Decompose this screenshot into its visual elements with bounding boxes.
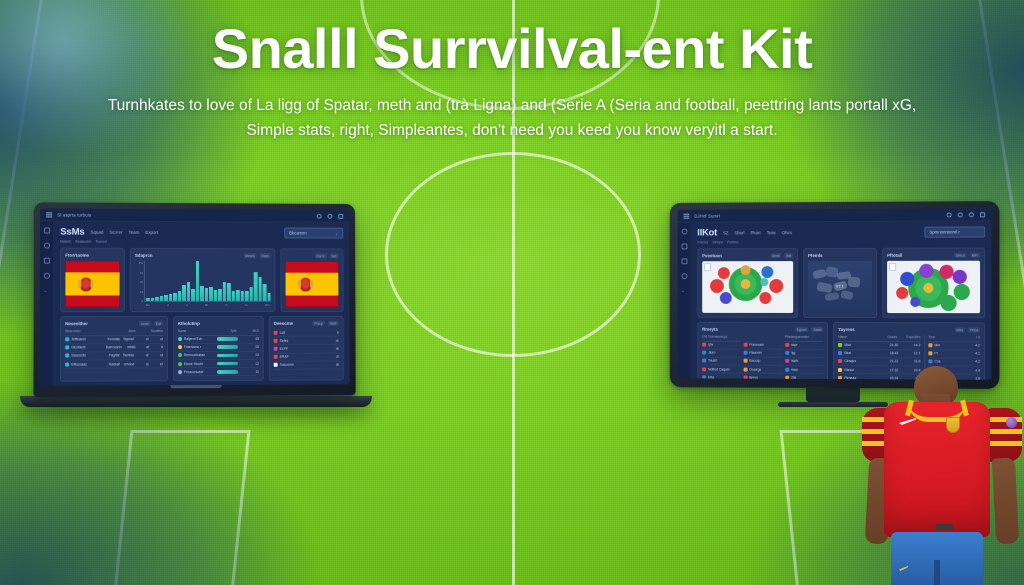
roster-col-c: Fttielaegueeestm aaprhjgbtqfsHaarOfitJnt	[785, 335, 824, 380]
panel-roster-head: Rmeyta Eyport Sadd	[702, 327, 823, 332]
row-name: ELFF	[280, 347, 315, 351]
scorers-action-1[interactable]: Pbca	[968, 327, 980, 332]
chart-bar	[245, 291, 249, 301]
row-color-swatch	[178, 370, 182, 374]
chart-bar	[191, 289, 195, 301]
panel-formation-left-actions: Emtf Bltt	[770, 253, 793, 258]
col-tpts: Tpts	[214, 329, 237, 333]
row-color-swatch	[743, 351, 747, 355]
pitch-shard	[824, 292, 839, 301]
row-value: mtdal	[124, 345, 136, 349]
chart-bar	[222, 282, 226, 301]
y-tick-0: Pts	[135, 261, 143, 265]
nav-item-4[interactable]: Ohirs	[782, 230, 792, 235]
panel-formation-right-actions: Sfmol MPr	[954, 253, 980, 258]
row-name: aapr	[791, 343, 824, 347]
row-name: Cus	[934, 360, 961, 364]
row-value: 11	[240, 370, 259, 374]
chart-x-axis: Mu cl a Mt Ur bv yPo	[144, 302, 271, 307]
table-mid-body: Raljerot Ech43Fraenamc r15Renouanuean14E…	[178, 335, 259, 376]
panel-formation-right: Pftotall Sfmol MPr	[882, 248, 985, 319]
help-icon[interactable]	[958, 212, 963, 217]
panel-table-right-actions: Poicy SMP	[312, 321, 338, 326]
x-tick-0: Mu	[146, 303, 150, 307]
competition-select-value: Sprnnnnnnnnrl r	[929, 230, 959, 235]
user-icon[interactable]	[980, 212, 985, 217]
bubble-node	[939, 265, 953, 279]
sleeve-stripe	[986, 441, 1022, 446]
table-icon[interactable]	[43, 258, 49, 264]
season-select-value: Bbcamnn	[289, 230, 306, 235]
panel-table-mid: KtholcEnp Name Tpts MLS Raljerot Ech43Fr…	[173, 316, 264, 382]
row-bar	[217, 337, 238, 341]
poster-text-block: Snalll Surrvilval-ent Kit Turnhkates to …	[0, 20, 1024, 144]
player-shorts	[891, 532, 983, 585]
table-row[interactable]: Setesar	[274, 337, 339, 345]
table-row[interactable]: Jlurn	[702, 349, 740, 357]
row-name: Poneoam	[749, 343, 781, 347]
table-row[interactable]: Raljerot Ech43	[178, 335, 259, 343]
spain-crest-icon	[81, 277, 92, 290]
row-name: Ijhv	[708, 343, 740, 347]
breadcrumb-item-0[interactable]: Mateis	[60, 240, 71, 244]
table-row[interactable]: Poneoam	[743, 341, 781, 349]
row-value: Tigola2	[122, 337, 134, 341]
bar-chart: Pts 4d 2d 1d 4 Mu	[135, 261, 271, 307]
spain-flag	[65, 261, 120, 307]
row-value: it	[317, 330, 339, 334]
row-color-swatch	[178, 345, 182, 349]
bubble-node	[952, 269, 966, 283]
table-row[interactable]: Haar	[785, 366, 824, 374]
laptop-body: ⌄ SsMs Squad Scorer Team Export	[40, 221, 350, 385]
chart-bar	[146, 298, 150, 301]
table-row[interactable]: GEofaerllBarrcoonnmtdalatit	[65, 344, 163, 353]
table-row[interactable]: Blrai18.4312.1	[838, 350, 920, 358]
scorers-action-0[interactable]: Mtrs	[954, 327, 965, 332]
table-row[interactable]: Rlaamtn	[743, 349, 781, 357]
breadcrumb-item-2[interactable]: Portmo	[727, 240, 738, 244]
x-tick-4: Ur	[225, 303, 228, 307]
panel-table-left-actions: xxxm Edf	[139, 321, 163, 326]
row-value: 14	[240, 353, 259, 357]
y-tick-1: 4d	[135, 270, 143, 274]
row-name: Etoue Htodrl	[184, 362, 215, 366]
roster-col-a-body: IjhvJlurnTausrtNotfed CaqumEtta	[702, 341, 740, 380]
league-badge-icon	[1006, 417, 1017, 428]
row-value: 12.1	[900, 352, 920, 356]
player-jersey	[884, 402, 990, 537]
table-row[interactable]: ERAFst	[274, 353, 339, 361]
chart-bar	[231, 291, 235, 301]
row-color-swatch	[178, 337, 182, 341]
row-color-swatch	[702, 367, 706, 371]
player-sleeve-right	[986, 408, 1022, 462]
nav-item-scorer[interactable]: Scorer	[109, 230, 122, 235]
table-action-1[interactable]: Edf	[154, 321, 163, 326]
chart-bar	[178, 291, 182, 301]
roster-col-c-title: Fttielaegueeestm	[785, 335, 809, 339]
gear-icon[interactable]	[969, 212, 974, 217]
panel-team-left: Fton'taome	[60, 248, 125, 312]
table-row[interactable]: Bacssp	[743, 358, 781, 366]
table-row[interactable]: Ooaegs	[743, 366, 781, 374]
chart-bar	[267, 293, 271, 301]
row-value: 21.30	[878, 343, 898, 347]
panel-title: Pftotall	[887, 253, 902, 258]
chart-action-more[interactable]: Mores	[243, 253, 256, 258]
nav-item-0[interactable]: SZ	[723, 230, 729, 235]
row-bar	[217, 345, 238, 349]
col-name: Name	[178, 329, 214, 333]
table-row[interactable]: Bmyg	[743, 374, 781, 380]
monitor-content: IIKot SZ Sborl Pkort Teas Ohirs Sprnnnnn…	[691, 221, 991, 379]
laptop-bottom-panels: Neseeither xxxm Edf Neseomlcr	[60, 316, 344, 382]
chart-bar	[168, 294, 172, 301]
spain-crest-icon	[300, 278, 311, 291]
table-row[interactable]: Renouanuean14	[178, 352, 259, 360]
formation-action-1[interactable]: MPr	[970, 253, 980, 258]
row-color-swatch	[702, 375, 706, 379]
bell-icon[interactable]	[317, 213, 322, 218]
row-name: Renouanuean	[184, 353, 215, 357]
page-title: Snalll Surrvilval-ent Kit	[0, 20, 1024, 79]
row-color-swatch	[838, 376, 842, 380]
chevron-down-icon[interactable]: ⌄	[43, 288, 49, 294]
row-value: Barrcoonn	[106, 346, 122, 350]
row-value: at	[317, 347, 339, 351]
bubble-node	[953, 284, 969, 300]
grid-icon[interactable]	[338, 213, 343, 218]
row-color-swatch	[65, 354, 69, 358]
chart-icon[interactable]	[681, 258, 687, 264]
chart-bar	[218, 289, 222, 301]
row-value: 11.8	[900, 360, 920, 364]
row-value: st	[317, 355, 339, 359]
monitor-sidebar: ⌄	[678, 223, 692, 379]
row-name: Mlat	[844, 343, 876, 347]
row-color-swatch	[65, 337, 69, 341]
laptop-content: SsMs Squad Scorer Team Export Bbcamnn ⌄	[54, 221, 350, 385]
y-tick-3: 1d	[135, 289, 143, 293]
table-row[interactable]: Mlat21.3014.2	[838, 342, 920, 350]
help-icon[interactable]	[327, 213, 332, 218]
y-tick-4: 4	[135, 299, 143, 303]
hamburger-icon[interactable]	[684, 213, 690, 218]
panel-title: Ptemls	[808, 253, 822, 258]
row-color-swatch	[785, 376, 789, 380]
chart-action-set[interactable]: Seet	[260, 253, 271, 258]
table-row[interactable]: Etta	[702, 374, 740, 380]
row-value: 4.2	[963, 360, 980, 364]
formation-action-0[interactable]: Sfmol	[954, 253, 967, 258]
bubble-node	[910, 297, 920, 307]
panel-chart-head: Sdaprcn Mores Seet	[135, 253, 271, 258]
panel-team-right-head: Cal E Set	[285, 253, 338, 258]
monitor-stand	[806, 388, 860, 402]
roster-columns: UM Toameeeecys IjhvJlurnTausrtNotfed Caq…	[702, 335, 823, 380]
settings-icon[interactable]	[43, 273, 49, 279]
row-name: Ofit	[791, 376, 824, 380]
chart-y-axis: Pts 4d 2d 1d 4	[135, 261, 144, 307]
panel-title: KtholcEnp	[178, 321, 200, 326]
row-name: Sasescite	[71, 354, 91, 358]
bubble-node	[760, 292, 772, 304]
row-color-swatch	[274, 355, 278, 359]
row-color-swatch	[274, 330, 278, 334]
row-value: Radeaf	[107, 362, 119, 366]
row-bar	[217, 354, 238, 358]
table-row[interactable]: Pr4.1	[928, 350, 980, 358]
nav-item-1[interactable]: Sborl	[734, 230, 744, 235]
row-value: Pagriar	[107, 354, 119, 358]
monitor-header: IIKot SZ Sborl Pkort Teas Ohirs Sprnnnnn…	[697, 226, 985, 238]
chart-bar	[204, 288, 208, 301]
nav-item-squad[interactable]: Squad	[91, 230, 104, 235]
table-row[interactable]: Tausrt	[702, 357, 740, 365]
row-color-swatch	[178, 362, 182, 366]
chart-bar	[200, 286, 204, 301]
chart-bar	[254, 272, 258, 301]
table-left: Neseomlcr Amm Tlamfem JeffloaneiKvoniasT…	[65, 329, 163, 369]
row-value: 12	[240, 361, 259, 365]
row-name: Eiflscnaas	[71, 362, 91, 366]
x-tick-1: cl	[167, 303, 169, 307]
row-color-swatch	[702, 351, 706, 355]
season-select[interactable]: Bbcamnn ⌄	[284, 227, 343, 238]
roster-action-0[interactable]: Eyport	[795, 327, 809, 332]
table-row[interactable]: EiflscnaasRadeafcrhdodstet	[65, 360, 163, 369]
table-action-0[interactable]: Poicy	[312, 321, 324, 326]
poster-subtitle: Turnhkates to love of La ligg of Spatar,…	[92, 93, 932, 144]
bubble-node	[770, 279, 784, 293]
panel-table-left: Neseeither xxxm Edf Neseomlcr	[60, 316, 168, 382]
row-name: hjg	[791, 351, 824, 355]
row-value: st	[136, 362, 148, 366]
dashboard-icon[interactable]	[43, 227, 49, 233]
breadcrumb-item-1[interactable]: Seasuolm	[75, 240, 91, 244]
x-tick-5: bv	[245, 303, 248, 307]
monitor-bezel: DJHof SumH ⌄	[670, 201, 1000, 389]
table-row[interactable]: Mrn4.2	[928, 342, 980, 350]
table-row[interactable]: Prnaconueat11	[178, 368, 259, 377]
sidebar-value-col: r d	[960, 335, 980, 339]
nav-item-2[interactable]: Pkort	[750, 230, 760, 235]
breadcrumb: Franes Sineps Portmo	[697, 240, 985, 245]
panel-title: Neseeither	[65, 321, 88, 326]
sidebar-title: Tbar	[928, 335, 960, 339]
row-color-swatch	[928, 343, 932, 347]
row-color-swatch	[274, 339, 278, 343]
table-row[interactable]: ELFFat	[274, 345, 339, 353]
bubble-node	[940, 295, 956, 311]
table-row[interactable]: Ofit	[785, 374, 824, 380]
chart-bar	[182, 285, 186, 301]
jersey-hem-tag	[936, 524, 953, 530]
chart-bar	[150, 298, 154, 301]
panel-bar-chart: Sdaprcn Mores Seet Pts 4d	[130, 248, 276, 312]
dashboard-title: IIKot	[697, 227, 717, 238]
row-value: ut	[136, 354, 148, 358]
panel-table-right-head: Deeocme Poicy SMP	[274, 321, 339, 326]
row-color-swatch	[785, 367, 789, 371]
panel-table-left-head: Neseeither xxxm Edf	[65, 321, 163, 326]
row-value: Tachlas	[122, 354, 134, 358]
row-color-swatch	[928, 360, 932, 364]
row-name: Bacssp	[749, 359, 781, 363]
roster-col-c-body: aaprhjgbtqfsHaarOfitJnt	[785, 341, 824, 379]
row-name: Haar	[791, 367, 824, 371]
pitch-penalty-box-left	[109, 430, 250, 585]
team-action-cal[interactable]: Cal E	[314, 253, 326, 258]
roster-col-b: PoneoamRlaamtnBacsspOoaegsBmyg	[743, 335, 781, 380]
row-value: 21.22	[878, 360, 898, 364]
bell-icon[interactable]	[947, 212, 952, 217]
col-name: Name	[838, 335, 874, 339]
col-goals: Goales	[875, 335, 898, 339]
subtitle-line-1: Turnhkates to love of La ligg of Spatar,…	[108, 97, 740, 114]
row-value: et	[151, 362, 163, 366]
row-bar	[217, 362, 238, 366]
team-icon[interactable]	[43, 243, 49, 249]
table-right-body: LctfitSetesarELFFatERAFstSascenmat	[274, 329, 339, 370]
panel-title: Rmeyta	[702, 327, 718, 332]
chart-bar	[159, 296, 163, 301]
panel-table-right: Deeocme Poicy SMP LctfitSetesarELFFatERA…	[269, 316, 344, 381]
panel-chart-actions: Mores Seet	[243, 253, 270, 258]
table-row[interactable]: hjg	[785, 350, 824, 358]
row-color-swatch	[743, 367, 747, 371]
row-color-swatch	[838, 351, 842, 355]
table-mid: Name Tpts MLS Raljerot Ech43Fraenamc r15…	[178, 329, 259, 377]
panel-title: Sdaprcn	[135, 253, 153, 258]
row-name: Rlaamtn	[749, 351, 781, 355]
panel-title: Fton'taome	[65, 253, 89, 258]
row-name: GEofaerll	[71, 346, 90, 350]
spain-flag	[285, 261, 338, 307]
pitch-shard	[812, 269, 826, 280]
panel-roster: Rmeyta Eyport Sadd UM Toam	[697, 322, 828, 380]
nav-item-export[interactable]: Export	[145, 230, 158, 235]
competition-select[interactable]: Sprnnnnnnnnrl r	[924, 226, 985, 237]
row-name: Clraqus	[844, 360, 876, 364]
panel-formation-left: Pveotuon Emtf Bltt	[697, 248, 798, 318]
row-value: 4.2	[963, 343, 980, 347]
monitor-topbar-icons	[947, 212, 986, 217]
table-row[interactable]: Sascenmat	[274, 361, 339, 369]
formation-action-1[interactable]: Bltt	[784, 253, 793, 258]
chart-bar	[249, 287, 253, 301]
row-name: Bmyg	[749, 375, 781, 379]
app-title: DJHof SumH	[694, 213, 720, 218]
roster-col-a: UM Toameeeecys IjhvJlurnTausrtNotfed Caq…	[702, 335, 740, 380]
pitch-shard	[847, 276, 860, 288]
nav-item-team[interactable]: Team	[129, 230, 140, 235]
bubble-node	[919, 264, 933, 278]
table-row[interactable]: Fraenamc r15	[178, 344, 259, 352]
table-row[interactable]: Lctfit	[274, 329, 339, 337]
table-action-1[interactable]: SMP	[328, 321, 339, 326]
table-row[interactable]: JeffloaneiKvoniasTigola2stut	[65, 336, 163, 344]
row-color-swatch	[65, 346, 69, 350]
dashboard-nav: SZ Sborl Pkort Teas Ohirs	[723, 230, 792, 235]
pitch-value-label: 97.1	[836, 283, 844, 288]
formation-bubble-chart-left	[702, 261, 793, 313]
laptop-notch	[170, 385, 222, 388]
flag-badge-icon	[889, 263, 896, 271]
subtitle-line-3: veryitl a start.	[685, 122, 777, 139]
bubble-node	[710, 279, 724, 293]
panel-roster-actions: Eyport Sadd	[795, 327, 824, 332]
dashboard-icon[interactable]	[681, 229, 687, 235]
monitor-screen: DJHof SumH ⌄	[678, 208, 992, 380]
bubble-node	[762, 267, 774, 279]
table-action-0[interactable]: xxxm	[139, 321, 151, 326]
row-name: Lctf	[280, 330, 315, 334]
nav-item-3[interactable]: Teas	[767, 230, 776, 235]
breadcrumb-item-2[interactable]: Teleont	[95, 240, 107, 244]
row-value: Kvonias	[107, 337, 119, 341]
col-xg: Expecltes	[897, 335, 920, 339]
chart-bar	[263, 284, 267, 301]
row-color-swatch	[785, 359, 789, 363]
row-value: 4.1	[963, 352, 980, 356]
chart-plot: Mu cl a Mt Ur bv yPo	[144, 261, 271, 307]
row-color-swatch	[785, 343, 789, 347]
row-value: 14.2	[900, 343, 920, 347]
breadcrumb-item-1[interactable]: Sineps	[712, 240, 723, 244]
table-row[interactable]: Ijhv	[702, 341, 740, 349]
panel-team-right: Cal E Set	[280, 248, 343, 312]
chevron-down-icon[interactable]: ⌄	[681, 288, 687, 294]
row-color-swatch	[838, 368, 842, 372]
table-row[interactable]: btqfs	[785, 358, 824, 366]
hamburger-icon[interactable]	[46, 212, 52, 217]
row-color-swatch	[274, 347, 278, 351]
row-name: Blrai	[844, 351, 876, 355]
row-name: Tausrt	[708, 359, 740, 363]
col-tlamfem: Tlamfem	[136, 329, 163, 333]
table-row[interactable]: Notfed Caqum	[702, 366, 740, 374]
chart-bar	[258, 277, 262, 301]
row-color-swatch	[743, 359, 747, 363]
row-color-swatch	[838, 343, 842, 347]
heatmap-shards: 97.1	[808, 261, 872, 313]
team-action-set[interactable]: Set	[330, 253, 339, 258]
row-value: ut	[151, 337, 163, 341]
laptop-header: SsMs Squad Scorer Team Export Bbcamnn ⌄	[60, 227, 343, 239]
panel-team-left-head: Fton'taome	[65, 253, 120, 258]
panel-title: Tayress	[838, 327, 854, 332]
panel-pitch-mid-head: Ptemls	[808, 253, 872, 258]
panel-scorers-actions: Mtrs Pbca	[954, 327, 980, 332]
chart-bar	[173, 293, 177, 301]
row-name: Mrn	[934, 343, 961, 347]
panel-title: Deeocme	[274, 321, 293, 326]
pitch-shard	[816, 282, 833, 294]
roster-action-1[interactable]: Sadd	[811, 327, 823, 332]
row-name: Pr	[934, 352, 961, 356]
formation-action-0[interactable]: Emtf	[770, 253, 781, 258]
table-row[interactable]: aapr	[785, 341, 824, 349]
settings-icon[interactable]	[681, 273, 687, 279]
breadcrumb: Mateis Seasuolm Teleont	[60, 240, 343, 245]
bubble-node	[720, 292, 732, 304]
laptop-screen: Sl asprta turbuis ⌄	[40, 208, 350, 386]
team-icon[interactable]	[681, 243, 687, 249]
breadcrumb-item-0[interactable]: Franes	[697, 240, 708, 244]
chart-bar	[227, 283, 231, 301]
